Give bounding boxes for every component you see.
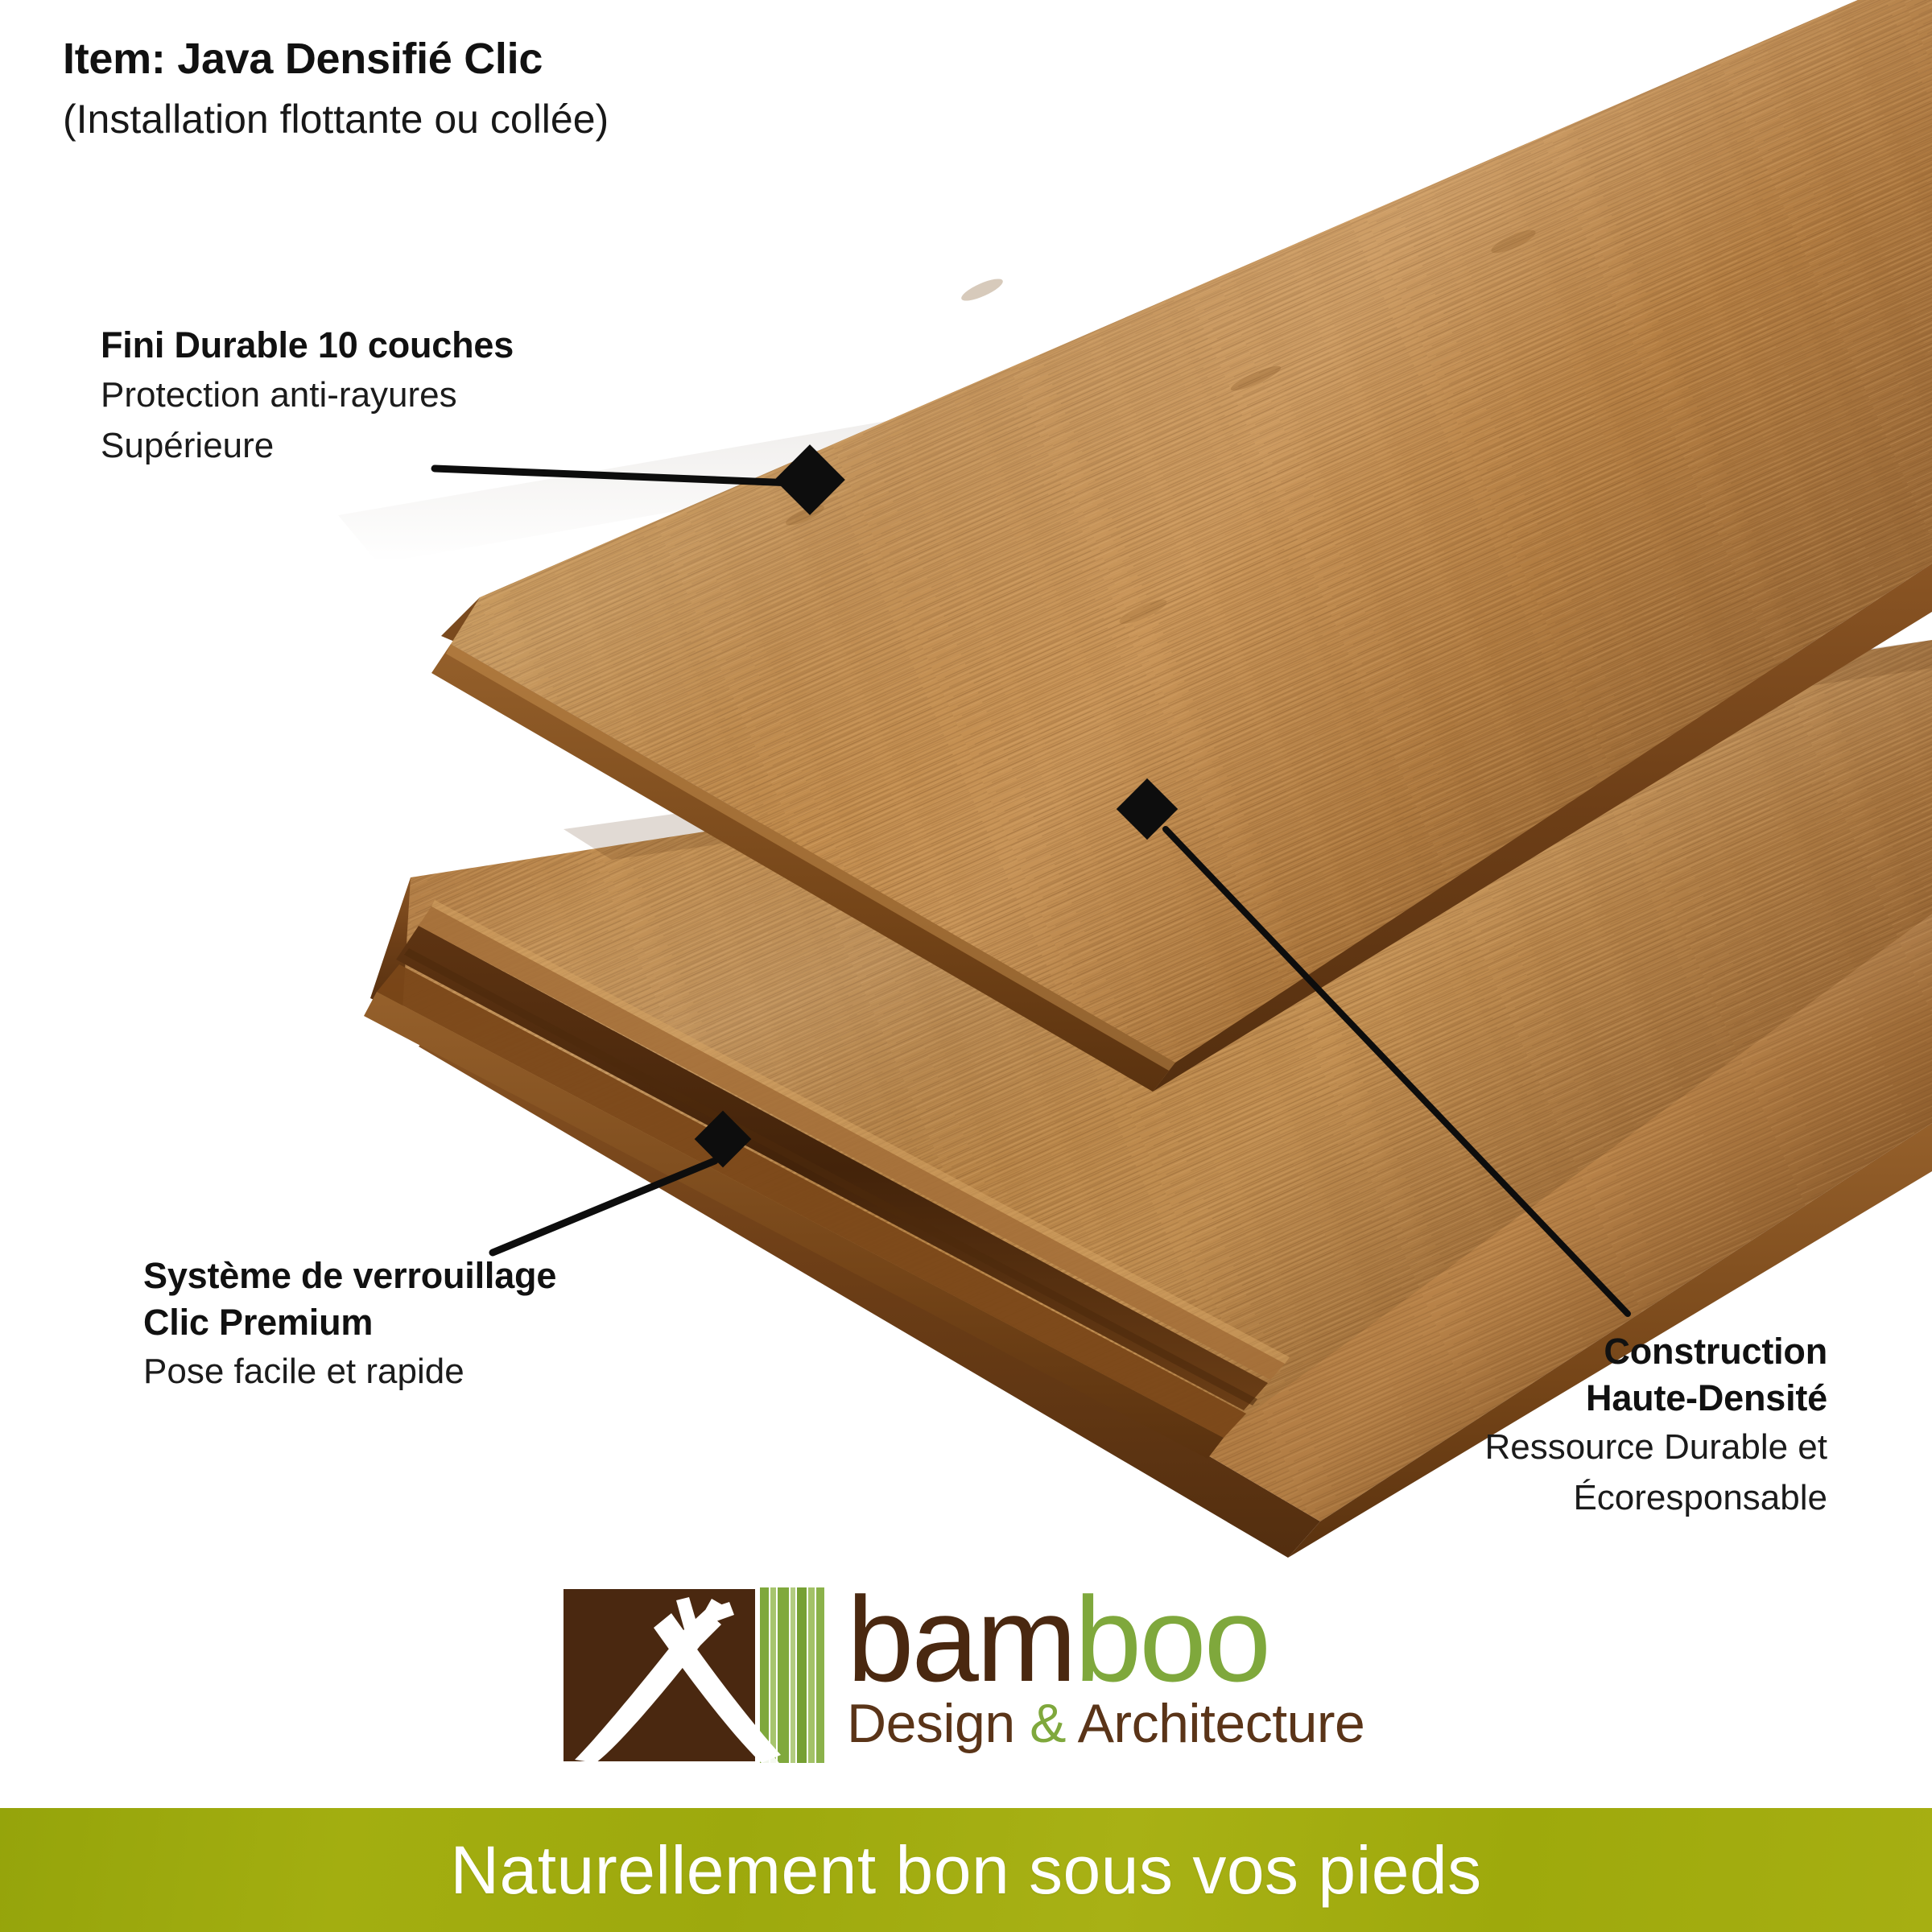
tagline-ampersand: & bbox=[1030, 1693, 1066, 1754]
brand-logo: bamboo Design & Architecture bbox=[563, 1587, 1393, 1789]
brand-wordmark: bamboo Design & Architecture bbox=[847, 1581, 1402, 1755]
wordmark-bam: bam bbox=[847, 1571, 1075, 1707]
callout-finish-body-line2: Supérieure bbox=[101, 423, 761, 470]
callout-lock-body-line1: Pose facile et rapide bbox=[143, 1348, 868, 1396]
tagline-design: Design bbox=[847, 1693, 1030, 1754]
callout-density-heading-line1: Construction bbox=[1119, 1328, 1827, 1375]
product-title-block: Item: Java Densifié Clic (Installation f… bbox=[63, 34, 1029, 146]
wordmark-boo: boo bbox=[1075, 1571, 1269, 1707]
diamond-marker-lock bbox=[695, 1111, 752, 1168]
callout-finish-body-line1: Protection anti-rayures bbox=[101, 372, 761, 419]
plank-top bbox=[431, 0, 1932, 1092]
callout-high-density: Construction Haute-Densité Ressource Dur… bbox=[1119, 1328, 1827, 1522]
infographic-canvas: Item: Java Densifié Clic (Installation f… bbox=[0, 0, 1932, 1932]
callout-density-body-line2: Écoresponsable bbox=[1119, 1475, 1827, 1522]
leader-line-lock bbox=[493, 1161, 715, 1253]
callout-finish: Fini Durable 10 couches Protection anti-… bbox=[101, 322, 761, 470]
bottom-slogan-banner: Naturellement bon sous vos pieds bbox=[0, 1808, 1932, 1932]
wordmark-bamboo: bamboo bbox=[847, 1581, 1402, 1697]
bamboo-logo-mark-icon bbox=[563, 1587, 829, 1763]
leader-line-density bbox=[1166, 829, 1628, 1314]
callout-lock-system: Système de verrouillage Clic Premium Pos… bbox=[143, 1253, 868, 1396]
tagline-architecture: Architecture bbox=[1066, 1693, 1364, 1754]
callout-finish-heading: Fini Durable 10 couches bbox=[101, 322, 761, 369]
page-title: Item: Java Densifié Clic bbox=[63, 34, 1029, 85]
wordmark-tagline: Design & Architecture bbox=[847, 1692, 1402, 1755]
diamond-marker-finish bbox=[774, 444, 845, 515]
callout-lock-heading-line2: Clic Premium bbox=[143, 1299, 868, 1346]
slogan-text: Naturellement bon sous vos pieds bbox=[450, 1836, 1481, 1904]
diamond-marker-density bbox=[1117, 778, 1178, 840]
callout-lock-heading-line1: Système de verrouillage bbox=[143, 1253, 868, 1299]
callout-density-body-line1: Ressource Durable et bbox=[1119, 1424, 1827, 1472]
leader-line-finish bbox=[435, 469, 793, 483]
page-subtitle: (Installation flottante ou collée) bbox=[63, 93, 1029, 146]
callout-density-heading-line2: Haute-Densité bbox=[1119, 1375, 1827, 1422]
